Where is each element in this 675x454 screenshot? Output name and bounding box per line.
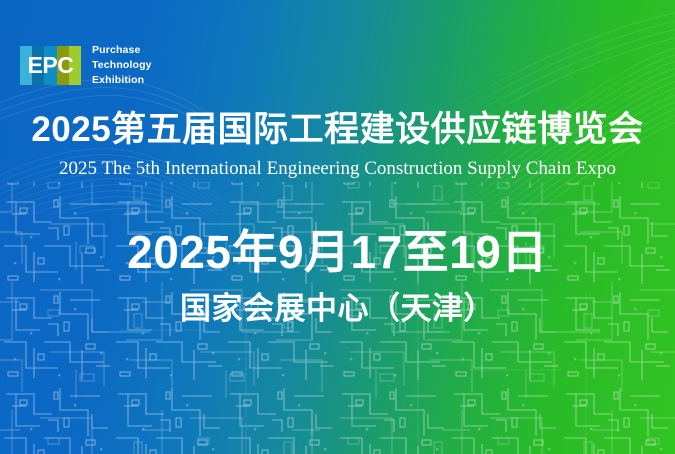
logo-tagline-line-2: Technology: [92, 58, 152, 73]
logo-tagline: Purchase Technology Exhibition: [92, 43, 152, 88]
logo-lockup: EPC Purchase Technology Exhibition: [20, 43, 152, 88]
logo-tagline-line-1: Purchase: [92, 43, 152, 58]
event-date: 2025年9月17至19日: [0, 224, 675, 280]
epc-logo-mark: EPC: [20, 46, 81, 85]
logo-tagline-line-3: Exhibition: [92, 73, 152, 88]
expo-banner: EPC Purchase Technology Exhibition 2025第…: [0, 0, 675, 454]
headline-chinese: 2025第五届国际工程建设供应链博览会: [0, 108, 675, 152]
logo-text: EPC: [20, 46, 81, 85]
event-venue: 国家会展中心（天津）: [0, 290, 675, 329]
headline-english: 2025 The 5th International Engineering C…: [0, 158, 675, 181]
